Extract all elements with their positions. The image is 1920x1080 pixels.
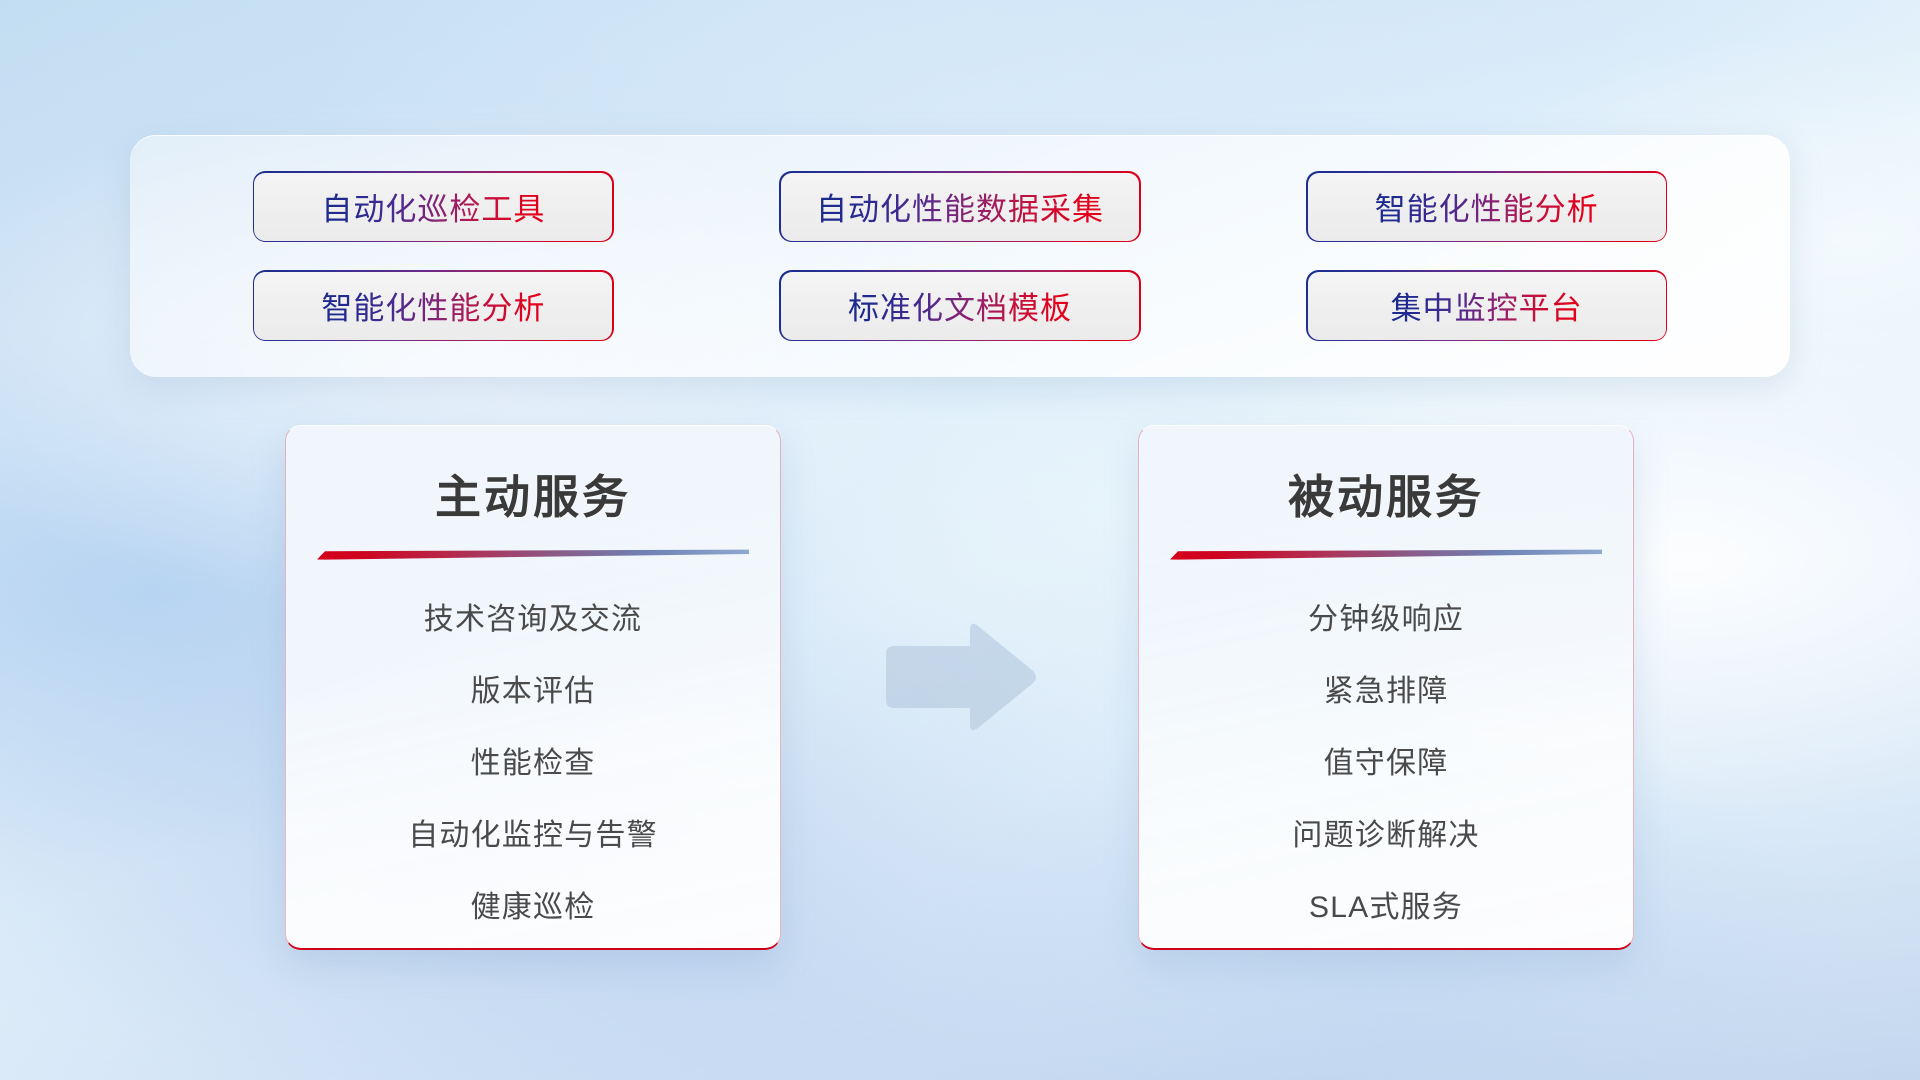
capability-pill-label: 集中监控平台 xyxy=(1391,283,1583,328)
card-divider-active xyxy=(317,549,749,560)
service-list-item: 分钟级响应 xyxy=(1308,584,1464,656)
arrow-right-icon xyxy=(874,618,1040,736)
capability-pill-intelligent-performance-analysis-top[interactable]: 智能化性能分析 xyxy=(1308,173,1666,241)
capability-pill-centralized-monitoring-platform[interactable]: 集中监控平台 xyxy=(1308,272,1666,340)
card-title-passive: 被动服务 xyxy=(1288,461,1484,527)
capability-pill-automation-inspection-tool[interactable]: 自动化巡检工具 xyxy=(254,173,612,241)
service-list-active: 技术咨询及交流 版本评估 性能检查 自动化监控与告警 健康巡检 xyxy=(286,584,780,944)
card-divider-passive xyxy=(1170,549,1602,560)
capability-panel: 自动化巡检工具 自动化性能数据采集 智能化性能分析 智能化性能分析 标准化文档模… xyxy=(130,135,1790,377)
capability-pill-label: 智能化性能分析 xyxy=(1375,184,1599,229)
capability-pill-intelligent-performance-analysis-bottom[interactable]: 智能化性能分析 xyxy=(254,272,612,340)
service-list-item: 自动化监控与告警 xyxy=(408,800,658,872)
service-list-item: 值守保障 xyxy=(1324,728,1449,800)
capability-pill-automated-performance-data-collection[interactable]: 自动化性能数据采集 xyxy=(781,173,1139,241)
service-card-active: 主动服务 技术咨询及交流 版本评估 性能检查 自动化监控与告警 健康巡检 xyxy=(285,425,781,950)
service-list-item: 问题诊断解决 xyxy=(1292,800,1479,872)
service-list-item: 性能检查 xyxy=(471,728,596,800)
capability-pill-label: 标准化文档模板 xyxy=(848,283,1072,328)
service-list-item: 版本评估 xyxy=(471,656,596,728)
capability-pill-label: 自动化性能数据采集 xyxy=(816,184,1104,229)
service-list-item: 健康巡检 xyxy=(471,872,596,944)
service-list-passive: 分钟级响应 紧急排障 值守保障 问题诊断解决 SLA式服务 xyxy=(1139,584,1633,944)
service-card-passive: 被动服务 分钟级响应 紧急排障 值守保障 问题诊断解决 SLA式服务 xyxy=(1138,425,1634,950)
capability-pill-label: 智能化性能分析 xyxy=(321,283,545,328)
capability-pill-standardized-document-template[interactable]: 标准化文档模板 xyxy=(781,272,1139,340)
capability-pill-label: 自动化巡检工具 xyxy=(321,184,545,229)
service-list-item: 紧急排障 xyxy=(1324,656,1449,728)
service-list-item: 技术咨询及交流 xyxy=(424,584,642,656)
card-title-active: 主动服务 xyxy=(435,461,631,527)
service-list-item: SLA式服务 xyxy=(1309,872,1463,944)
